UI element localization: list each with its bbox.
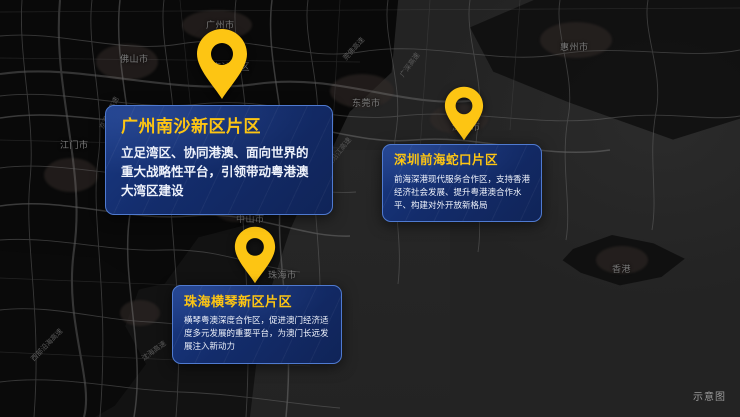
info-card-description: 前海深港现代服务合作区，支持香港经济社会发展、提升粤港澳合作水平、构建对外开放新… [394,173,530,212]
map-place-label: 东莞市 [352,96,381,109]
info-card-zhuhai-hengqin[interactable]: 珠海横琴新区片区 横琴粤澳深度合作区，促进澳门经济适度多元发展的重要平台，为澳门… [172,285,342,364]
map-pin-shenzhen-qianhai[interactable] [444,86,484,141]
info-card-title: 珠海横琴新区片区 [184,294,330,309]
map-place-label: 佛山市 [120,52,149,65]
map-pin-guangzhou-nansha[interactable] [196,28,248,100]
map-place-label: 江门市 [60,138,89,151]
info-card-title: 深圳前海蛇口片区 [394,153,530,168]
watermark-label: 示意图 [693,388,726,403]
map-place-label: 香港 [612,262,631,275]
map-pin-zhuhai-hengqin[interactable] [234,226,276,284]
map-infographic: 江门市广州市佛山市南沙新区东莞市中山市珠海市深圳市香港澳门惠州市 广澳高速西部沿… [0,0,740,417]
info-card-guangzhou-nansha[interactable]: 广州南沙新区片区 立足湾区、协同港澳、面向世界的重大战略性平台，引领带动粤港澳大… [105,105,333,215]
map-place-label: 惠州市 [560,40,589,53]
info-card-description: 立足湾区、协同港澳、面向世界的重大战略性平台，引领带动粤港澳大湾区建设 [121,144,317,201]
info-card-shenzhen-qianhai[interactable]: 深圳前海蛇口片区 前海深港现代服务合作区，支持香港经济社会发展、提升粤港澳合作水… [382,144,542,222]
info-card-description: 横琴粤澳深度合作区，促进澳门经济适度多元发展的重要平台，为澳门长远发展注入新动力 [184,314,330,353]
info-card-title: 广州南沙新区片区 [121,117,317,137]
